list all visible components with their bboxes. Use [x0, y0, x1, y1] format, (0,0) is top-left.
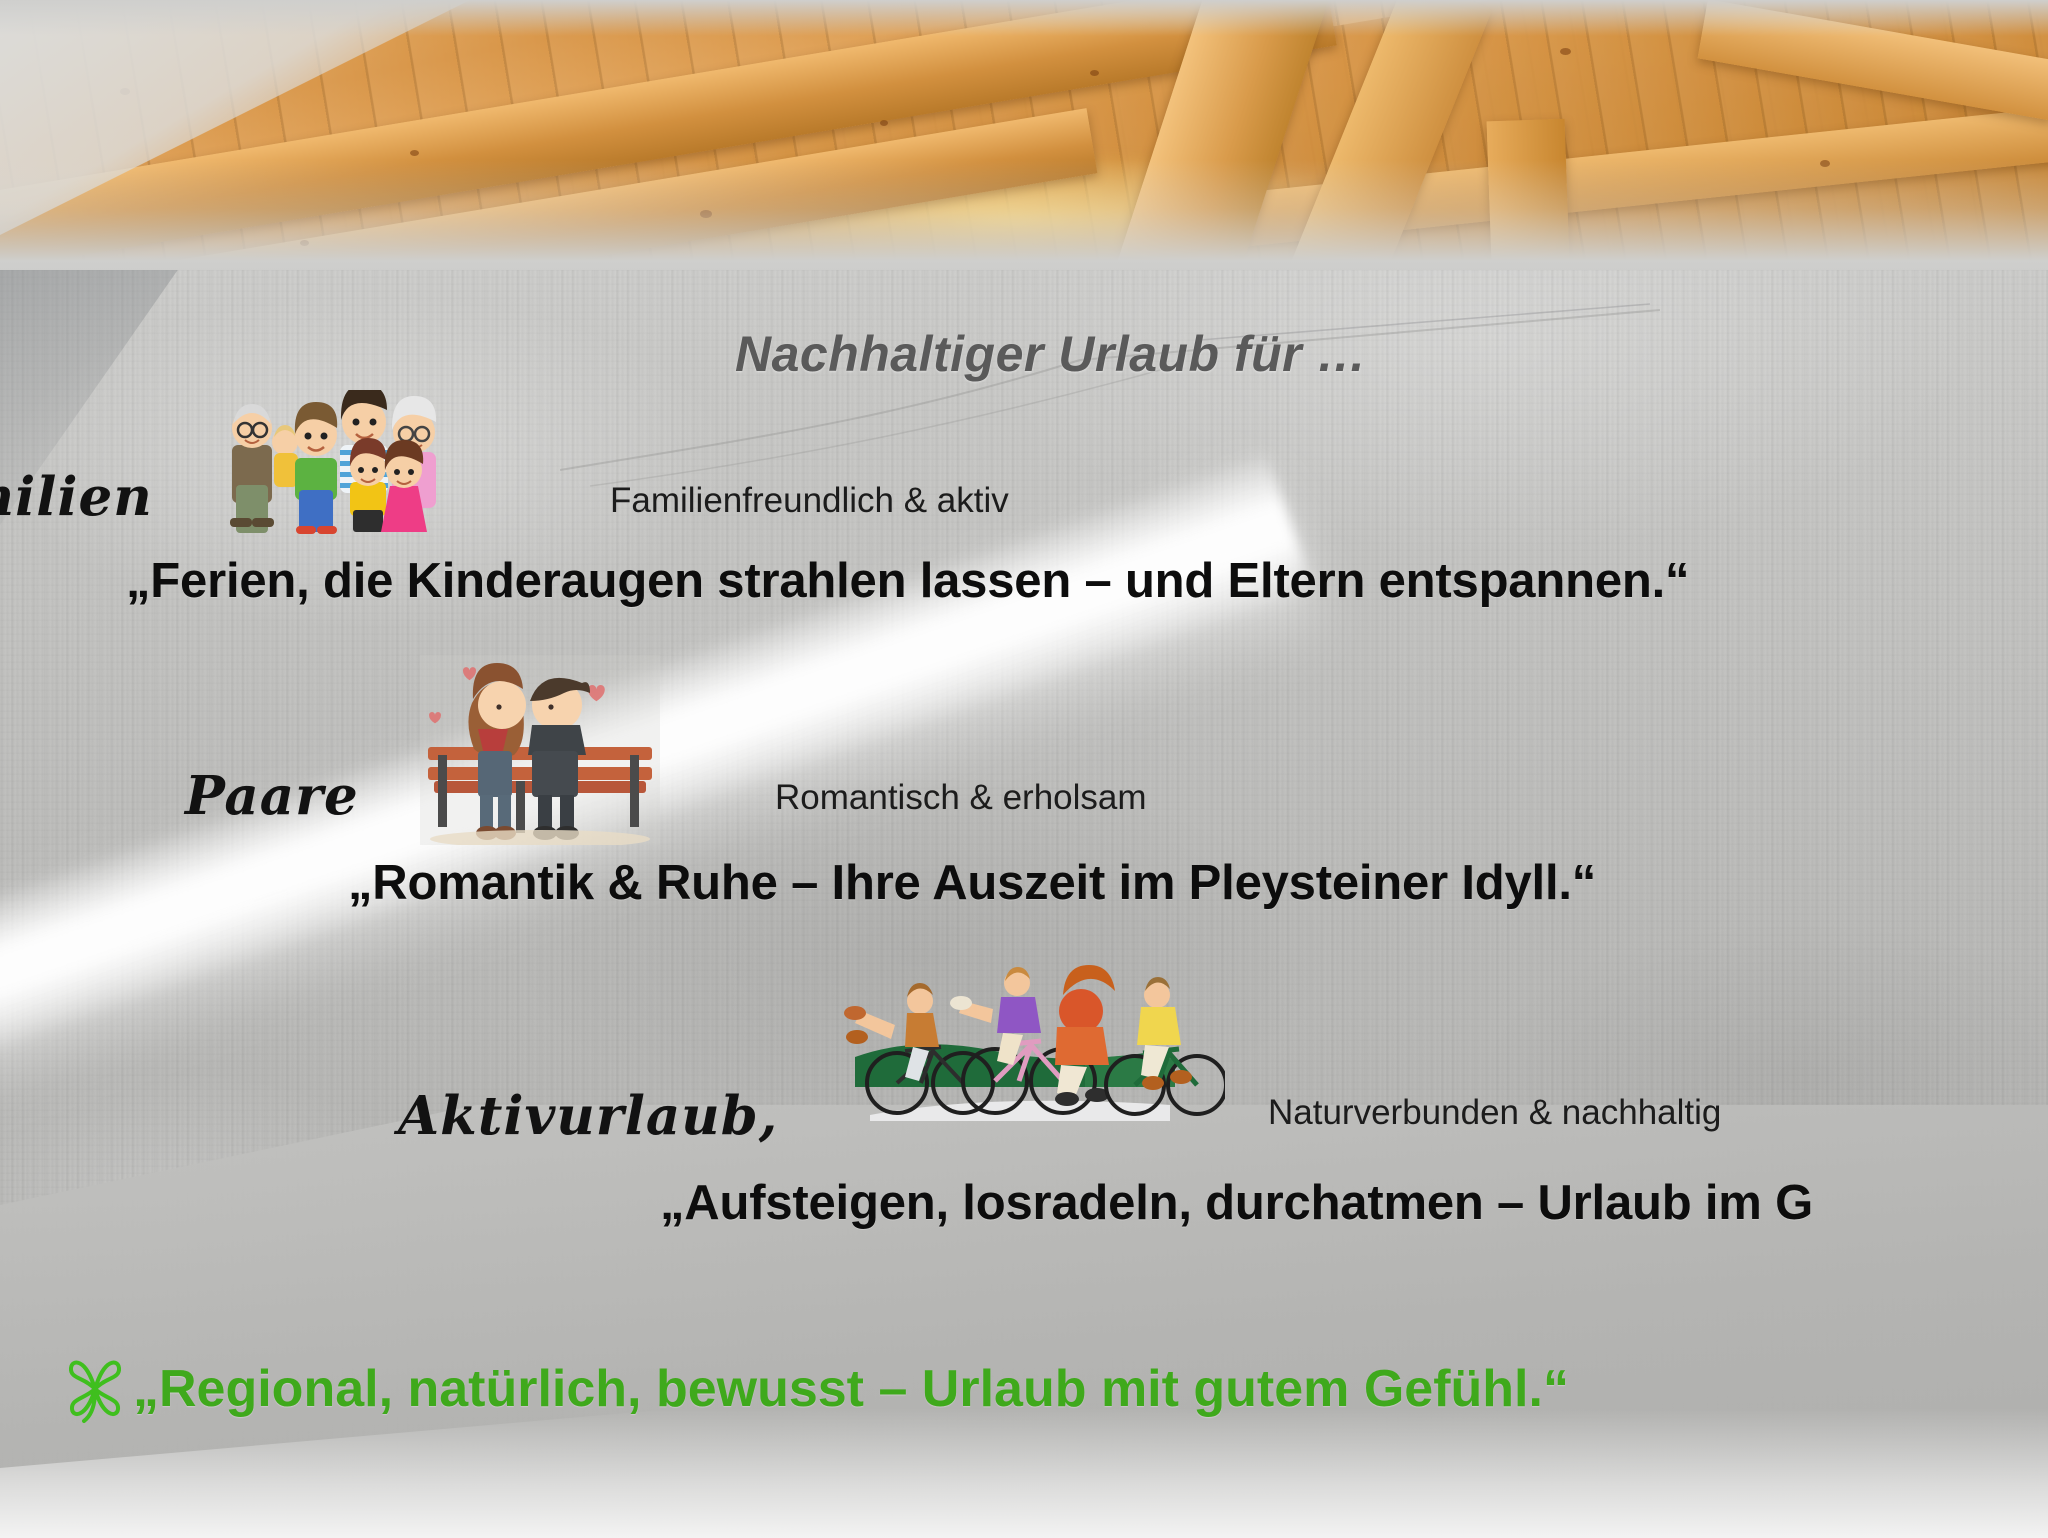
quote-familien: „Ferien, die Kinderaugen strahlen lassen…: [126, 553, 1689, 609]
category-label-aktivurlaub: Aktivurlaub,: [398, 1085, 778, 1147]
four-leaf-clover-icon: [62, 1355, 130, 1429]
quote-paare: „Romantik & Ruhe – Ihre Auszeit im Pleys…: [348, 855, 1596, 911]
footer-slogan: „Regional, natürlich, bewusst – Urlaub m…: [133, 1359, 1569, 1419]
slide-title: Nachhaltiger Urlaub für …: [735, 325, 1367, 383]
subtitle-familien: Familienfreundlich & aktiv: [610, 481, 1009, 521]
subtitle-aktivurlaub: Naturverbunden & nachhaltig: [1268, 1093, 1721, 1133]
slide-canvas: Nachhaltiger Urlaub für …: [0, 0, 2048, 1538]
cyclists-clipart: [835, 965, 1225, 1130]
wooden-roof-truss-photo: [0, 0, 2048, 270]
family-clipart: [200, 390, 500, 535]
category-label-paare: Paare: [185, 765, 359, 827]
category-label-familien: milien: [0, 466, 153, 528]
quote-aktivurlaub: „Aufsteigen, losradeln, durchatmen – Url…: [660, 1175, 1813, 1231]
subtitle-paare: Romantisch & erholsam: [775, 778, 1147, 818]
couple-on-bench-clipart: [420, 655, 660, 845]
